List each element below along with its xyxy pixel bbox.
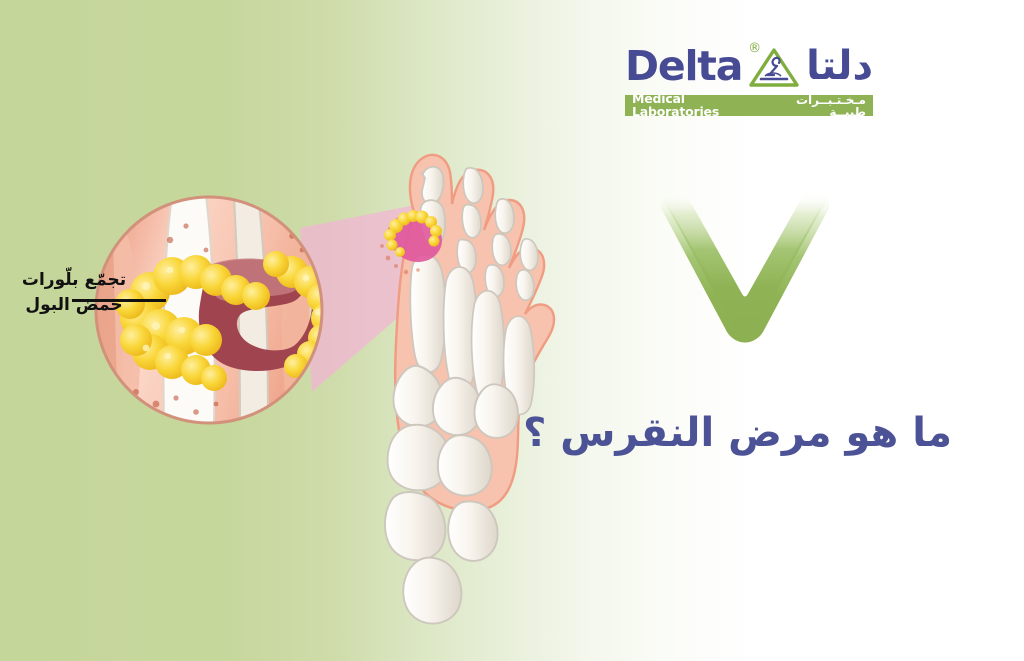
human-foot-skeleton-icon	[380, 155, 554, 624]
green-v-chevron-icon	[655, 192, 835, 344]
page-title: ما هو مرض النقرس ؟	[532, 408, 952, 458]
gout-foot-illustration	[0, 0, 600, 661]
microscope-in-triangle-icon: ®	[748, 44, 800, 88]
delta-logo[interactable]: Delta ® دلتا Medical Laboratories م	[625, 40, 873, 116]
callout-line-1: تجمّع بلّورات	[18, 268, 130, 293]
callout-line-2: حمض البول	[18, 293, 130, 318]
logo-tagline-en: Medical Laboratories	[632, 93, 764, 118]
callout-leader-line	[72, 299, 166, 302]
logo-tagline-ar: مـخـتـبــرات طبيــة	[764, 94, 866, 118]
logo-wordmark-ar: دلتا	[806, 46, 873, 86]
logo-wordmark-en: Delta	[625, 46, 742, 87]
logo-top-row: Delta ® دلتا	[625, 40, 873, 92]
logo-tagline-bar: Medical Laboratories مـخـتـبــرات طبيــة	[625, 95, 873, 116]
callout-label: تجمّع بلّورات حمض البول	[18, 268, 130, 317]
registered-trademark-icon: ®	[748, 42, 761, 55]
poster-canvas: تجمّع بلّورات حمض البول Delta ®	[0, 0, 1024, 661]
